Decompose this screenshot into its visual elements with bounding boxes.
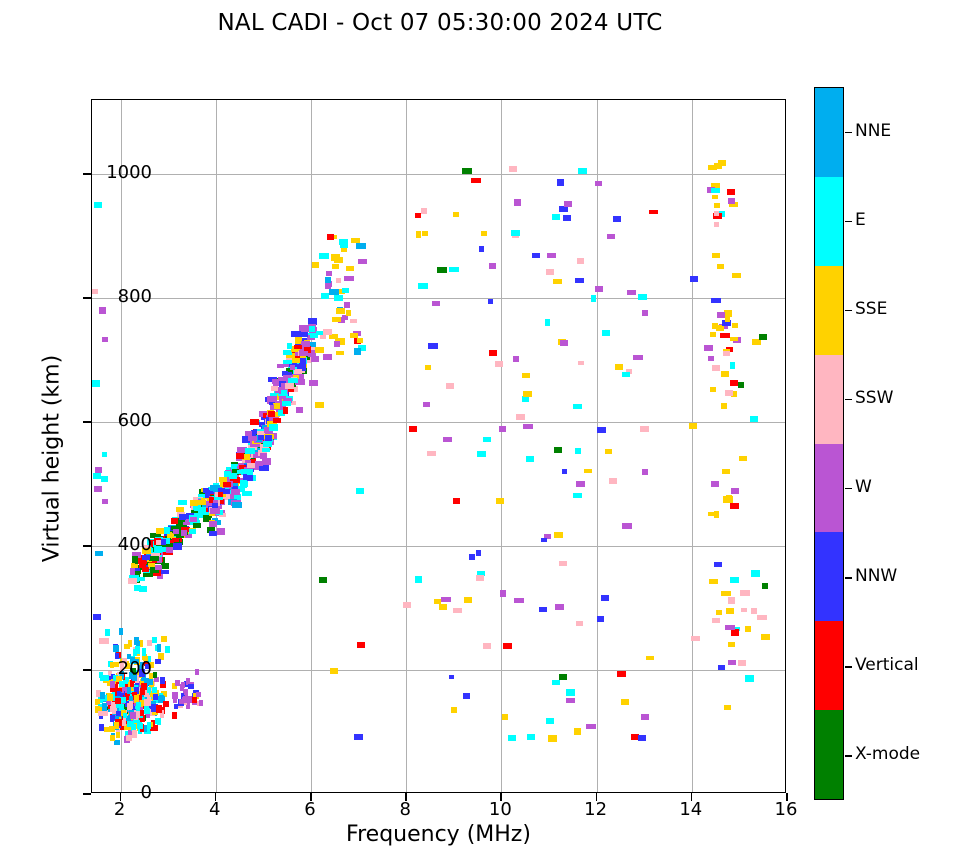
data-point bbox=[622, 523, 632, 530]
data-point bbox=[356, 243, 366, 250]
data-point bbox=[147, 722, 152, 729]
data-point bbox=[102, 703, 107, 710]
data-point bbox=[147, 640, 151, 646]
data-point bbox=[346, 266, 354, 272]
data-point bbox=[119, 681, 125, 687]
data-point bbox=[92, 380, 100, 386]
data-point bbox=[711, 481, 719, 486]
data-point bbox=[554, 532, 562, 538]
data-point bbox=[147, 687, 151, 693]
data-point bbox=[358, 259, 366, 263]
data-point bbox=[622, 372, 630, 378]
data-point bbox=[415, 576, 421, 582]
data-point bbox=[100, 692, 105, 699]
data-point bbox=[179, 514, 185, 520]
data-point bbox=[294, 345, 302, 350]
data-point bbox=[714, 163, 722, 169]
data-point bbox=[496, 498, 504, 504]
data-point bbox=[726, 608, 734, 614]
scatter-data-layer bbox=[92, 100, 785, 792]
data-point bbox=[327, 234, 335, 240]
data-point bbox=[164, 527, 170, 534]
data-point bbox=[453, 498, 460, 503]
data-point bbox=[730, 362, 736, 369]
data-point bbox=[708, 512, 714, 517]
data-point bbox=[137, 723, 143, 729]
data-point bbox=[477, 451, 486, 457]
data-point bbox=[646, 656, 653, 661]
data-point bbox=[601, 595, 609, 601]
colorbar-tick bbox=[845, 488, 852, 489]
data-point bbox=[573, 404, 582, 409]
data-point bbox=[751, 570, 760, 576]
data-point bbox=[217, 528, 225, 535]
data-point bbox=[198, 500, 206, 506]
data-point bbox=[509, 166, 517, 172]
data-point bbox=[149, 556, 158, 561]
data-point bbox=[423, 402, 430, 407]
data-point bbox=[325, 277, 331, 283]
data-point bbox=[615, 364, 623, 370]
data-point bbox=[114, 722, 119, 729]
data-point bbox=[750, 416, 759, 422]
data-point bbox=[526, 456, 534, 462]
data-point bbox=[500, 590, 506, 596]
data-point bbox=[290, 365, 295, 370]
data-point bbox=[173, 698, 177, 703]
data-point bbox=[119, 628, 123, 635]
data-point bbox=[181, 530, 187, 536]
data-point bbox=[144, 699, 150, 706]
data-point bbox=[514, 199, 521, 205]
data-point bbox=[711, 188, 719, 194]
data-point bbox=[310, 333, 318, 338]
colorbar-tick bbox=[845, 399, 852, 400]
data-point bbox=[209, 521, 217, 527]
data-point bbox=[638, 735, 646, 741]
data-point bbox=[557, 179, 564, 186]
data-point bbox=[545, 319, 550, 326]
data-point bbox=[336, 351, 344, 356]
data-point bbox=[334, 341, 340, 346]
data-point bbox=[613, 216, 620, 222]
data-point bbox=[129, 701, 133, 709]
data-point bbox=[161, 636, 167, 642]
data-point bbox=[110, 735, 115, 741]
data-point bbox=[761, 634, 769, 640]
data-point bbox=[265, 435, 272, 441]
data-point bbox=[115, 698, 121, 704]
colorbar-tick bbox=[845, 132, 852, 133]
data-point bbox=[732, 323, 738, 329]
data-point bbox=[282, 401, 291, 406]
data-point bbox=[453, 212, 458, 217]
data-point bbox=[319, 253, 328, 259]
data-point bbox=[99, 638, 109, 644]
data-point bbox=[315, 402, 323, 408]
data-point bbox=[488, 299, 493, 304]
data-point bbox=[93, 473, 101, 479]
data-point bbox=[727, 189, 735, 195]
data-point bbox=[153, 725, 158, 731]
data-point bbox=[155, 565, 163, 570]
data-point bbox=[559, 561, 567, 567]
colorbar-segment-vertical bbox=[815, 621, 843, 710]
data-point bbox=[690, 276, 698, 282]
data-point bbox=[173, 529, 179, 534]
data-point bbox=[183, 696, 189, 702]
colorbar-tick bbox=[845, 221, 852, 222]
data-point bbox=[723, 351, 730, 356]
data-point bbox=[418, 283, 427, 289]
data-point bbox=[154, 546, 163, 552]
data-point bbox=[248, 436, 257, 441]
colorbar-tick bbox=[845, 755, 852, 756]
x-axis-label: Frequency (MHz) bbox=[91, 822, 786, 847]
data-point bbox=[165, 646, 170, 653]
data-point bbox=[320, 335, 326, 340]
data-point bbox=[640, 426, 649, 432]
data-point bbox=[172, 538, 179, 543]
data-point bbox=[717, 312, 725, 318]
data-point bbox=[281, 390, 287, 396]
data-point bbox=[547, 253, 555, 259]
data-point bbox=[190, 517, 196, 522]
data-point bbox=[710, 387, 716, 392]
colorbar-label-x-mode: X-mode bbox=[855, 744, 920, 764]
x-tick-label: 2 bbox=[90, 799, 150, 820]
data-point bbox=[157, 644, 161, 652]
data-point bbox=[99, 307, 106, 314]
data-point bbox=[273, 418, 281, 423]
data-point bbox=[126, 735, 132, 741]
data-point bbox=[114, 740, 119, 745]
data-point bbox=[633, 355, 643, 360]
colorbar-label-nnw: NNW bbox=[855, 566, 897, 586]
data-point bbox=[203, 488, 210, 493]
data-point bbox=[449, 267, 459, 273]
colorbar-segment-ssw bbox=[815, 355, 843, 444]
data-point bbox=[720, 333, 730, 339]
data-point bbox=[309, 380, 317, 386]
data-point bbox=[163, 701, 168, 707]
data-point bbox=[311, 356, 319, 362]
x-tick-label: 16 bbox=[756, 799, 816, 820]
data-point bbox=[155, 659, 161, 664]
data-point bbox=[574, 728, 581, 734]
data-point bbox=[136, 702, 141, 707]
data-point bbox=[124, 644, 130, 649]
data-point bbox=[193, 523, 201, 528]
data-point bbox=[329, 289, 338, 295]
colorbar-segment-w bbox=[815, 444, 843, 533]
data-point bbox=[721, 371, 729, 377]
data-point bbox=[263, 441, 272, 448]
data-point bbox=[132, 556, 139, 562]
data-point bbox=[354, 348, 361, 354]
data-point bbox=[292, 358, 299, 363]
data-point bbox=[142, 555, 151, 560]
data-point bbox=[559, 674, 567, 680]
colorbar-label-sse: SSE bbox=[855, 299, 887, 319]
data-point bbox=[127, 687, 131, 694]
data-point bbox=[94, 202, 102, 208]
data-point bbox=[130, 712, 135, 719]
data-point bbox=[416, 231, 422, 238]
data-point bbox=[336, 308, 344, 314]
data-point bbox=[597, 616, 604, 622]
data-point bbox=[441, 597, 451, 602]
data-point bbox=[269, 424, 278, 430]
data-point bbox=[354, 734, 362, 740]
data-point bbox=[739, 456, 747, 461]
data-point bbox=[321, 293, 329, 299]
data-point bbox=[712, 618, 720, 623]
data-point bbox=[514, 598, 523, 603]
data-point bbox=[718, 665, 725, 670]
data-point bbox=[449, 675, 454, 680]
data-point bbox=[539, 607, 547, 612]
data-point bbox=[134, 585, 141, 591]
data-point bbox=[232, 502, 241, 508]
data-point bbox=[546, 269, 554, 275]
x-tick-label: 12 bbox=[566, 799, 626, 820]
data-point bbox=[332, 264, 339, 269]
data-point bbox=[541, 538, 546, 543]
colorbar-segment-e bbox=[815, 177, 843, 266]
data-point bbox=[566, 698, 574, 704]
data-point bbox=[563, 215, 571, 221]
data-point bbox=[300, 358, 306, 364]
data-point bbox=[283, 407, 288, 413]
data-point bbox=[173, 543, 182, 549]
data-point bbox=[740, 590, 750, 596]
data-point bbox=[144, 708, 150, 714]
data-point bbox=[199, 700, 203, 706]
data-point bbox=[242, 491, 251, 496]
data-point bbox=[730, 380, 738, 387]
data-point bbox=[714, 511, 720, 518]
data-point bbox=[710, 332, 716, 337]
data-point bbox=[127, 721, 133, 727]
data-point bbox=[172, 712, 176, 719]
data-point bbox=[189, 529, 196, 535]
data-point bbox=[437, 267, 446, 272]
data-point bbox=[176, 507, 184, 512]
data-point bbox=[195, 669, 199, 675]
data-point bbox=[99, 724, 104, 731]
y-tick-label: 200 bbox=[32, 658, 152, 679]
data-point bbox=[726, 495, 732, 501]
data-point bbox=[350, 319, 357, 323]
data-point bbox=[160, 677, 164, 684]
colorbar-segment-nne bbox=[815, 88, 843, 177]
data-point bbox=[607, 234, 615, 239]
data-point bbox=[462, 168, 471, 174]
colorbar-label-vertical: Vertical bbox=[855, 655, 919, 675]
data-point bbox=[93, 614, 101, 620]
data-point bbox=[351, 238, 360, 243]
data-point bbox=[489, 263, 496, 269]
data-point bbox=[716, 610, 722, 616]
data-point bbox=[180, 684, 185, 691]
data-point bbox=[446, 383, 454, 389]
data-point bbox=[315, 347, 323, 353]
data-point bbox=[422, 231, 428, 236]
data-point bbox=[102, 452, 108, 457]
data-point bbox=[188, 684, 194, 690]
data-point bbox=[564, 201, 572, 207]
data-point bbox=[152, 637, 157, 643]
data-point bbox=[283, 360, 291, 365]
data-point bbox=[602, 330, 610, 336]
data-point bbox=[427, 451, 437, 456]
data-point bbox=[219, 477, 227, 482]
data-point bbox=[141, 683, 147, 690]
data-point bbox=[578, 168, 588, 174]
data-point bbox=[495, 361, 503, 368]
data-point bbox=[277, 364, 284, 369]
data-point bbox=[745, 675, 754, 681]
data-point bbox=[161, 539, 167, 545]
colorbar-segment-nnw bbox=[815, 532, 843, 621]
data-point bbox=[704, 345, 712, 351]
data-point bbox=[142, 567, 148, 572]
data-point bbox=[717, 264, 724, 270]
data-point bbox=[116, 711, 121, 716]
data-point bbox=[171, 518, 178, 523]
data-point bbox=[527, 734, 535, 740]
data-point bbox=[546, 718, 554, 724]
data-point bbox=[432, 301, 440, 306]
x-tick-label: 8 bbox=[375, 799, 435, 820]
data-point bbox=[642, 310, 648, 316]
data-point bbox=[728, 660, 736, 665]
data-point bbox=[340, 242, 348, 248]
data-point bbox=[218, 492, 223, 497]
data-point bbox=[711, 298, 721, 303]
data-point bbox=[166, 547, 173, 553]
data-point bbox=[346, 310, 352, 316]
data-point bbox=[725, 390, 733, 396]
data-point bbox=[107, 694, 113, 701]
data-point bbox=[102, 499, 109, 504]
data-point bbox=[708, 356, 715, 361]
data-point bbox=[731, 488, 740, 494]
colorbar-label-ssw: SSW bbox=[855, 388, 893, 408]
data-point bbox=[584, 469, 592, 474]
data-point bbox=[110, 681, 116, 688]
data-point bbox=[153, 672, 158, 678]
data-point bbox=[223, 482, 230, 487]
data-point bbox=[562, 469, 568, 474]
data-point bbox=[323, 354, 332, 360]
data-point bbox=[156, 705, 162, 713]
data-point bbox=[641, 714, 649, 720]
data-point bbox=[428, 343, 438, 349]
data-point bbox=[617, 671, 625, 677]
data-point bbox=[196, 692, 202, 697]
data-point bbox=[575, 448, 581, 453]
data-point bbox=[245, 448, 254, 454]
data-point bbox=[483, 643, 491, 649]
data-point bbox=[105, 629, 110, 636]
data-point bbox=[725, 625, 734, 630]
data-point bbox=[476, 550, 482, 556]
data-point bbox=[513, 356, 519, 362]
data-point bbox=[267, 396, 277, 402]
data-point bbox=[309, 326, 315, 332]
data-point bbox=[730, 337, 738, 342]
data-point bbox=[555, 604, 563, 610]
data-point bbox=[731, 629, 739, 636]
data-point bbox=[178, 500, 187, 506]
data-point bbox=[356, 488, 364, 494]
data-point bbox=[312, 262, 319, 268]
data-point bbox=[453, 608, 462, 613]
azimuth-colorbar bbox=[814, 87, 844, 800]
data-point bbox=[730, 577, 738, 583]
data-point bbox=[714, 562, 721, 567]
y-tick-label: 1000 bbox=[32, 162, 152, 183]
data-point bbox=[262, 448, 270, 453]
data-point bbox=[730, 503, 738, 509]
data-point bbox=[334, 257, 343, 263]
data-point bbox=[714, 203, 720, 208]
data-point bbox=[95, 467, 102, 472]
data-point bbox=[762, 583, 768, 588]
data-point bbox=[523, 391, 531, 397]
data-point bbox=[508, 735, 516, 741]
colorbar-label-e: E bbox=[855, 210, 866, 230]
data-point bbox=[160, 570, 168, 575]
data-point bbox=[155, 718, 159, 724]
data-point bbox=[98, 711, 106, 716]
data-point bbox=[532, 253, 541, 258]
data-point bbox=[134, 637, 139, 645]
data-point bbox=[559, 206, 569, 212]
data-point bbox=[689, 423, 697, 429]
colorbar-tick bbox=[845, 577, 852, 578]
ionogram-plot-area bbox=[91, 99, 786, 793]
data-point bbox=[210, 508, 220, 514]
data-point bbox=[627, 290, 636, 295]
data-point bbox=[296, 407, 303, 413]
data-point bbox=[597, 427, 605, 433]
data-point bbox=[471, 178, 480, 183]
data-point bbox=[605, 449, 612, 454]
data-point bbox=[330, 668, 338, 674]
data-point bbox=[554, 447, 562, 453]
data-point bbox=[260, 453, 267, 458]
data-point bbox=[586, 724, 596, 729]
y-axis-label: Virtual height (km) bbox=[40, 299, 65, 619]
data-point bbox=[638, 294, 646, 300]
data-point bbox=[344, 276, 354, 281]
data-point bbox=[759, 334, 767, 340]
data-point bbox=[101, 476, 108, 482]
colorbar-label-nne: NNE bbox=[855, 121, 891, 141]
data-point bbox=[192, 697, 197, 703]
data-point bbox=[502, 714, 508, 720]
data-point bbox=[476, 575, 484, 581]
data-point bbox=[94, 486, 102, 492]
colorbar-segment-sse bbox=[815, 266, 843, 355]
data-point bbox=[595, 181, 602, 186]
data-point bbox=[113, 645, 119, 653]
data-point bbox=[573, 493, 582, 498]
data-point bbox=[130, 568, 136, 575]
